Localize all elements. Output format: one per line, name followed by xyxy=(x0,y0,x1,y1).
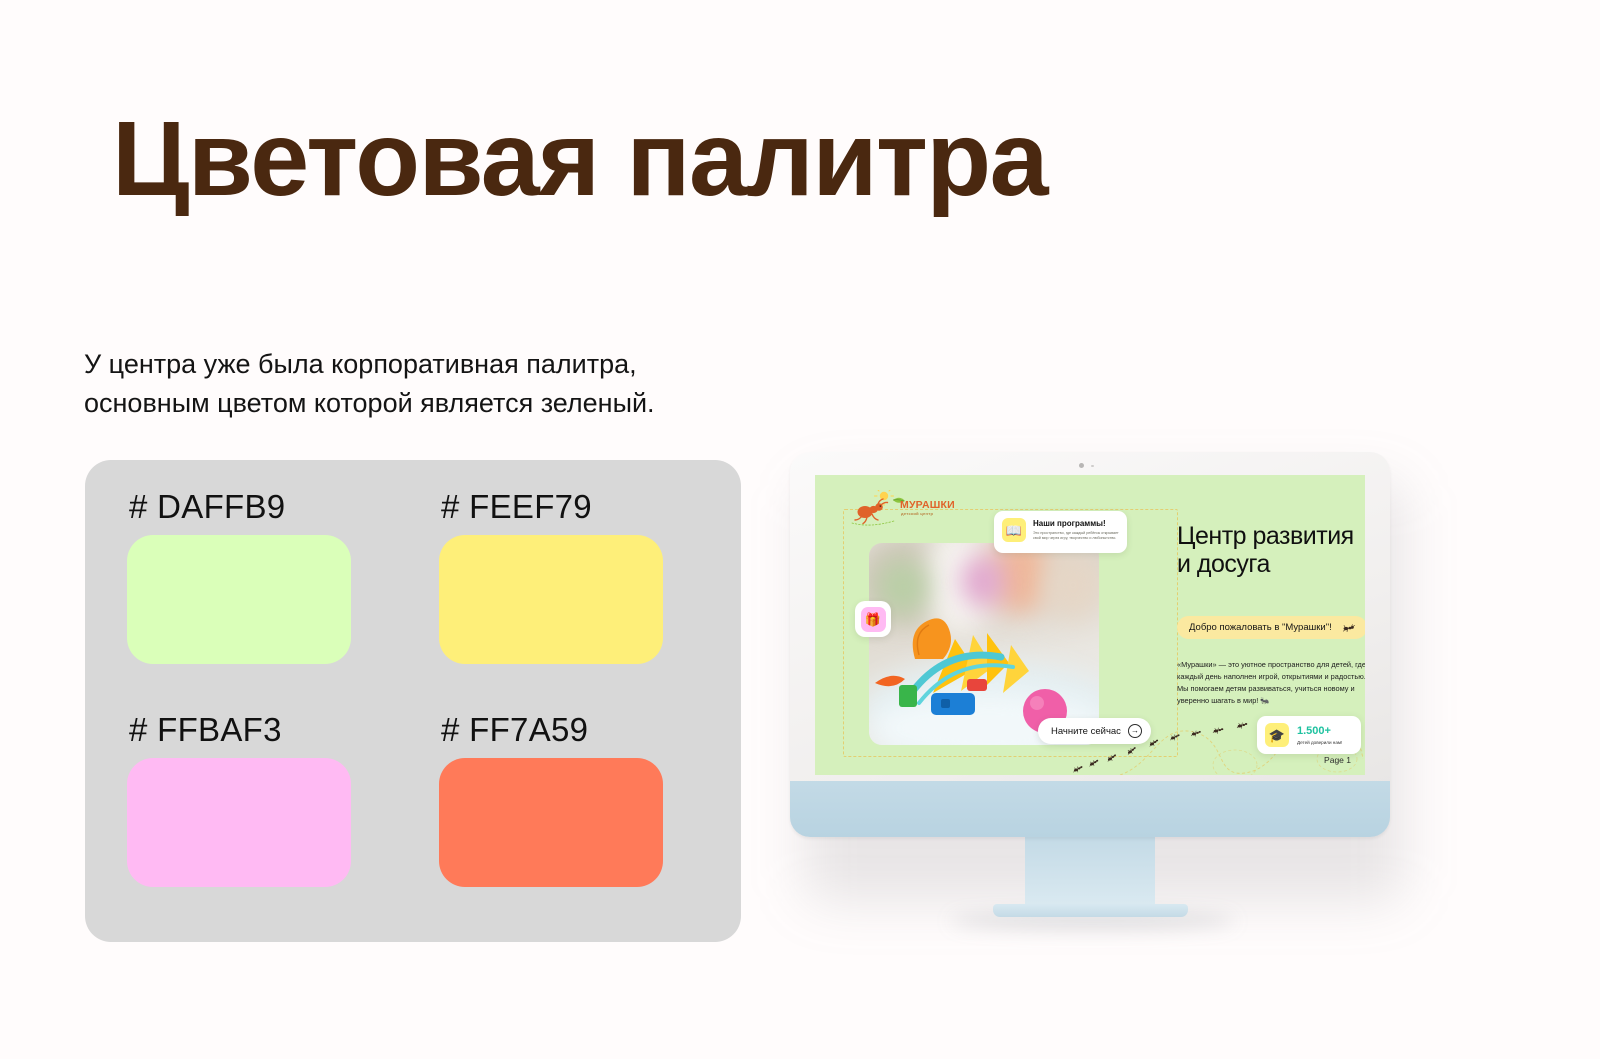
swatch-chip-pink[interactable] xyxy=(127,758,351,887)
screen-bezel: МУРАШКИ детский центр xyxy=(815,475,1365,775)
start-now-button[interactable]: Начните сейчас → xyxy=(1038,718,1151,744)
welcome-pill: Добро пожаловать в "Мурашки"! xyxy=(1177,616,1365,639)
swatch-item-pink: # FFBAF3 xyxy=(127,711,387,914)
swatch-chip-orange[interactable] xyxy=(439,758,663,887)
stat-value: 1.500+ xyxy=(1297,725,1342,737)
programs-card-title: Наши программы! xyxy=(1033,519,1119,528)
graduation-cap-icon: 🎓 xyxy=(1265,723,1289,747)
open-book-icon: 📖 xyxy=(1002,518,1026,542)
gift-box-icon: 🎁 xyxy=(861,607,886,632)
swatch-label: # FEEF79 xyxy=(441,488,699,526)
hero-photo xyxy=(869,543,1099,745)
stat-label: Детей доверили нам! xyxy=(1297,740,1342,745)
page-title: Цветовая палитра xyxy=(112,104,1047,215)
screen-content: МУРАШКИ детский центр xyxy=(815,475,1365,775)
stat-card[interactable]: 🎓 1.500+ Детей доверили нам! xyxy=(1257,716,1361,754)
logo-wordmark: МУРАШКИ xyxy=(900,500,955,511)
camera-icon xyxy=(1079,463,1084,468)
slide-root: Цветовая палитра У центра уже была корпо… xyxy=(0,0,1600,1059)
monitor-chin xyxy=(790,781,1390,837)
monitor-mockup: МУРАШКИ детский центр xyxy=(790,452,1410,930)
start-now-label: Начните сейчас xyxy=(1051,726,1121,737)
swatch-label: # DAFFB9 xyxy=(129,488,387,526)
screen-heading-line-2: и досуга xyxy=(1177,550,1354,578)
screen-heading-line-1: Центр развития xyxy=(1177,522,1354,550)
swatch-item-green: # DAFFB9 xyxy=(127,488,387,691)
monitor-base xyxy=(993,904,1188,917)
pink-icon-card[interactable]: 🎁 xyxy=(855,601,891,637)
logo-tagline: детский центр xyxy=(901,511,933,516)
subtitle-line-1: У центра уже была корпоративная палитра, xyxy=(84,345,655,384)
swatch-item-yellow: # FEEF79 xyxy=(439,488,699,691)
swatch-label: # FFBAF3 xyxy=(129,711,387,749)
brand-logo[interactable]: МУРАШКИ детский центр xyxy=(848,490,966,528)
swatch-item-orange: # FF7A59 xyxy=(439,711,699,914)
swatch-grid: # DAFFB9 # FEEF79 # FFBAF3 # FF7A59 xyxy=(85,460,741,942)
subtitle-line-2: основным цветом которой является зеленый… xyxy=(84,384,655,423)
subtitle: У центра уже была корпоративная палитра,… xyxy=(84,345,655,423)
ant-icon xyxy=(1343,624,1355,632)
swatch-chip-yellow[interactable] xyxy=(439,535,663,664)
monitor-body: МУРАШКИ детский центр xyxy=(790,452,1390,837)
monitor-neck xyxy=(1025,837,1155,912)
page-number: Page 1 xyxy=(1324,755,1351,765)
arrow-right-circle-icon: → xyxy=(1128,724,1142,738)
swatch-chip-green[interactable] xyxy=(127,535,351,664)
programs-card-body: Это пространство, где каждый ребёнок отк… xyxy=(1033,531,1119,542)
screen-body-text: «Мурашки» — это уютное пространство для … xyxy=(1177,659,1365,707)
swatch-label: # FF7A59 xyxy=(441,711,699,749)
programs-card[interactable]: 📖 Наши программы! Это пространство, где … xyxy=(994,511,1127,553)
welcome-pill-label: Добро пожаловать в "Мурашки"! xyxy=(1189,622,1332,633)
sensor-icon xyxy=(1091,465,1094,468)
screen-heading: Центр развития и досуга xyxy=(1177,522,1354,578)
palette-panel: # DAFFB9 # FEEF79 # FFBAF3 # FF7A59 xyxy=(85,460,741,942)
